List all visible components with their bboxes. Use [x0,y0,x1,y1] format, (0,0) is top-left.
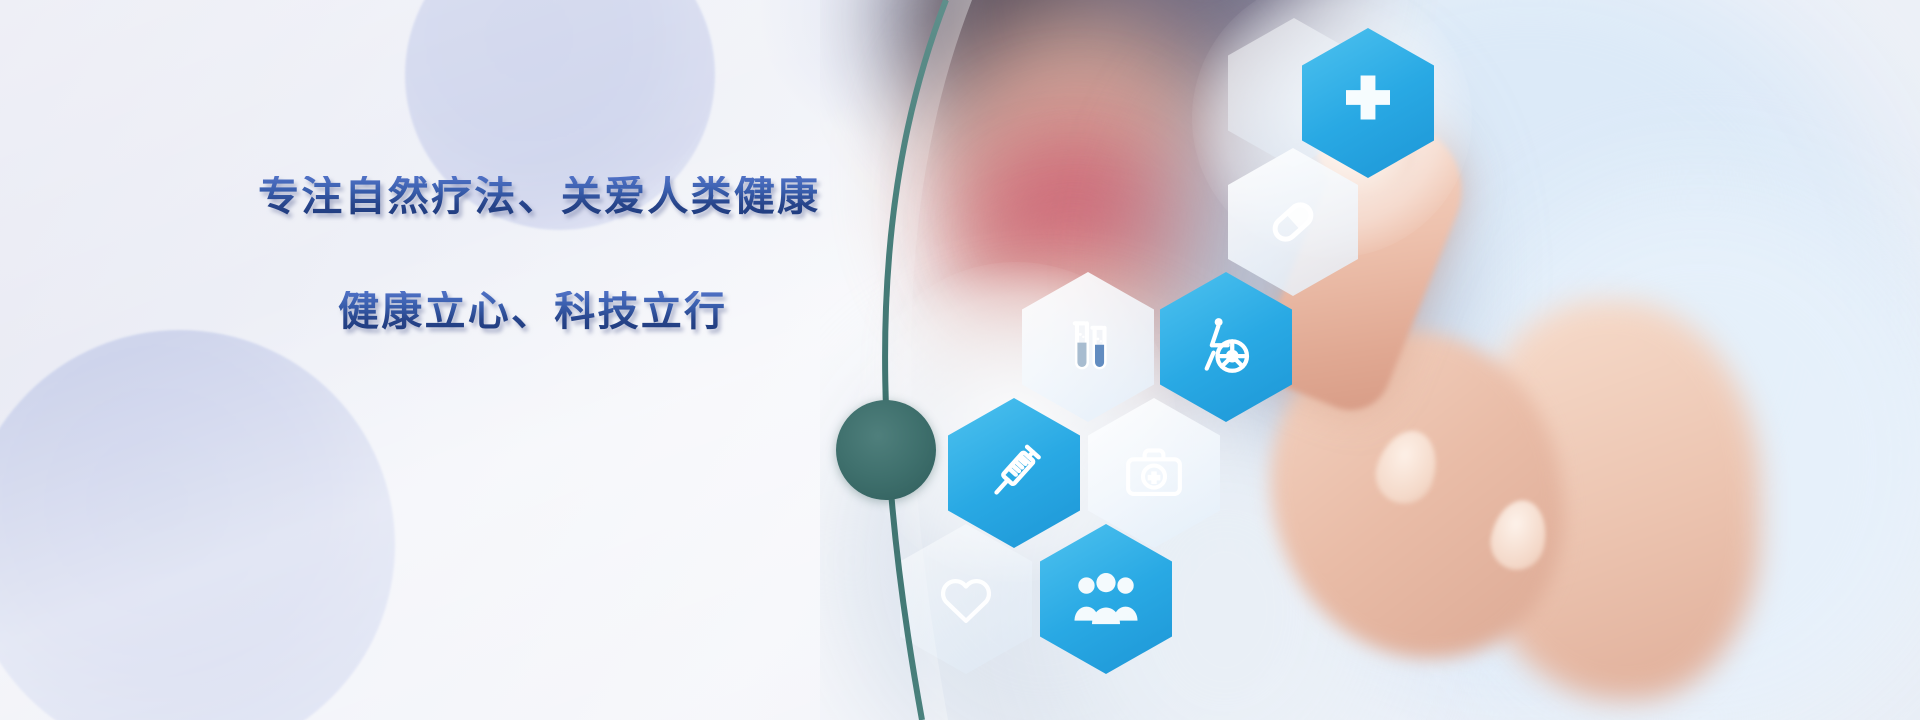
heart-icon [934,567,998,631]
hero-banner: 专注自然疗法、关爱人类健康 健康立心、科技立行 [0,0,1920,720]
family-group-icon [1071,564,1141,634]
teal-dot [836,400,936,500]
background-wash [0,0,880,720]
first-aid-kit-icon [1121,440,1187,506]
medical-cross-icon [1335,70,1401,136]
soft-circle-bottom [0,330,395,720]
pill-capsule-icon [1258,187,1328,257]
hex-wheelchair[interactable] [1160,272,1292,422]
wheelchair-icon [1192,313,1260,381]
hex-test-tubes[interactable] [1022,272,1154,422]
test-tubes-icon [1055,314,1121,380]
headline-line-2: 健康立心、科技立行 [338,291,858,332]
headline-block: 专注自然疗法、关爱人类健康 健康立心、科技立行 [258,176,858,332]
hex-pill-capsule[interactable] [1228,148,1358,296]
doctor-photo-panel [820,0,1920,720]
headline-line-1: 专注自然疗法、关爱人类健康 [258,176,858,217]
hexagon-icon-cluster [820,0,1920,720]
syringe-icon [978,437,1050,509]
